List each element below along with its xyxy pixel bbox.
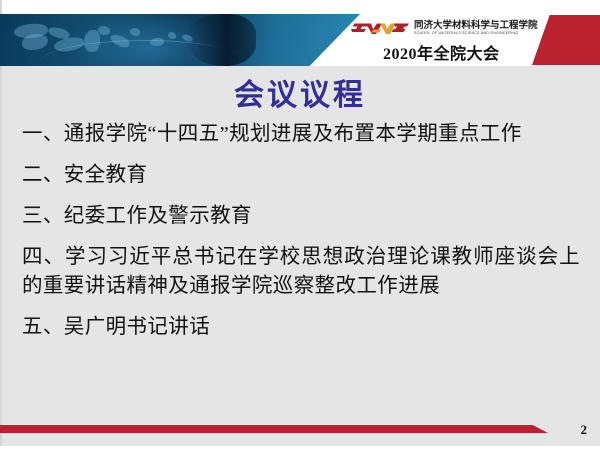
school-brand: 同济大学材料科学与工程学院 SCHOOL OF MATERIALS SCIENC…	[351, 16, 531, 40]
globe-landmass-shape	[98, 26, 110, 35]
event-year: 2020	[383, 46, 417, 63]
slide-body-left-border	[0, 66, 2, 450]
slide-header: 同济大学材料科学与工程学院 SCHOOL OF MATERIALS SCIENC…	[0, 14, 600, 66]
list-item: 五、吴广明书记讲话	[22, 313, 580, 342]
page-number: 2	[581, 422, 588, 438]
list-item: 一、通报学院“十四五”规划进展及布置本学期重点工作	[22, 120, 580, 149]
list-item: 二、安全教育	[22, 161, 580, 190]
school-name-en: SCHOOL OF MATERIALS SCIENCE AND ENGINEER…	[414, 31, 538, 36]
slide-left-border	[0, 0, 2, 14]
school-name-cn: 同济大学材料科学与工程学院	[414, 20, 538, 31]
event-title-suffix: 年全院大会	[417, 46, 500, 63]
slide-bottom-margin	[0, 446, 600, 450]
list-item: 四、学习习近平总书记在学校思想政治理论课教师座谈会上的重要讲话精神及通报学院巡察…	[22, 243, 580, 301]
globe-landmass-shape	[22, 34, 48, 50]
list-item: 三、纪委工作及警示教育	[22, 202, 580, 231]
globe-landmass-shape	[130, 28, 140, 36]
slide-top-margin	[0, 0, 600, 14]
smse-logo-icon	[351, 19, 409, 38]
slide-body: 会议议程 一、通报学院“十四五”规划进展及布置本学期重点工作 二、安全教育 三、…	[0, 66, 600, 450]
page-title: 会议议程	[0, 70, 600, 114]
globe-landmass-shape	[168, 32, 176, 39]
globe-shadow-shape	[186, 14, 256, 66]
school-name-block: 同济大学材料科学与工程学院 SCHOOL OF MATERIALS SCIENC…	[414, 20, 538, 36]
header-red-accent-shape	[532, 15, 600, 65]
event-title: 2020年全院大会	[383, 40, 500, 64]
footer-red-bar	[0, 425, 548, 433]
presentation-slide: 同济大学材料科学与工程学院 SCHOOL OF MATERIALS SCIENC…	[0, 0, 600, 450]
agenda-list: 一、通报学院“十四五”规划进展及布置本学期重点工作 二、安全教育 三、纪委工作及…	[22, 120, 580, 354]
world-globe-banner-icon	[0, 14, 360, 66]
